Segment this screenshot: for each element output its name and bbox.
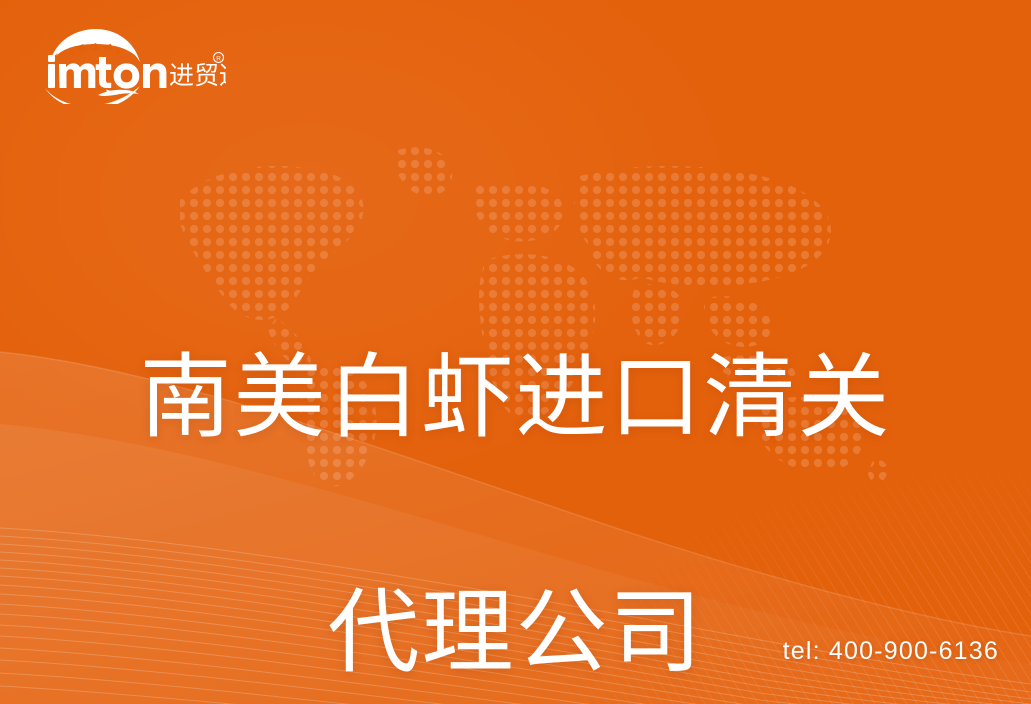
contact-telephone[interactable]: tel: 400-900-6136 — [783, 637, 999, 666]
logo-chinese-name: 进贸通 — [169, 61, 226, 90]
svg-text:R: R — [216, 56, 221, 63]
swoosh-arrow-icon — [45, 86, 140, 104]
promo-banner: 进贸通 R 南美白虾进口清关 代理公司 tel: 400-900-6136 — [0, 0, 1031, 704]
brand-logo[interactable]: 进贸通 R — [36, 26, 226, 104]
headline-line-1: 南美白虾进口清关 — [0, 340, 1031, 458]
headline: 南美白虾进口清关 代理公司 — [0, 222, 1031, 704]
logo-wordmark — [48, 55, 166, 89]
headline-line-2: 代理公司 — [0, 575, 1031, 693]
registered-trademark-icon: R — [214, 53, 224, 63]
globe-arc-icon — [50, 29, 140, 62]
